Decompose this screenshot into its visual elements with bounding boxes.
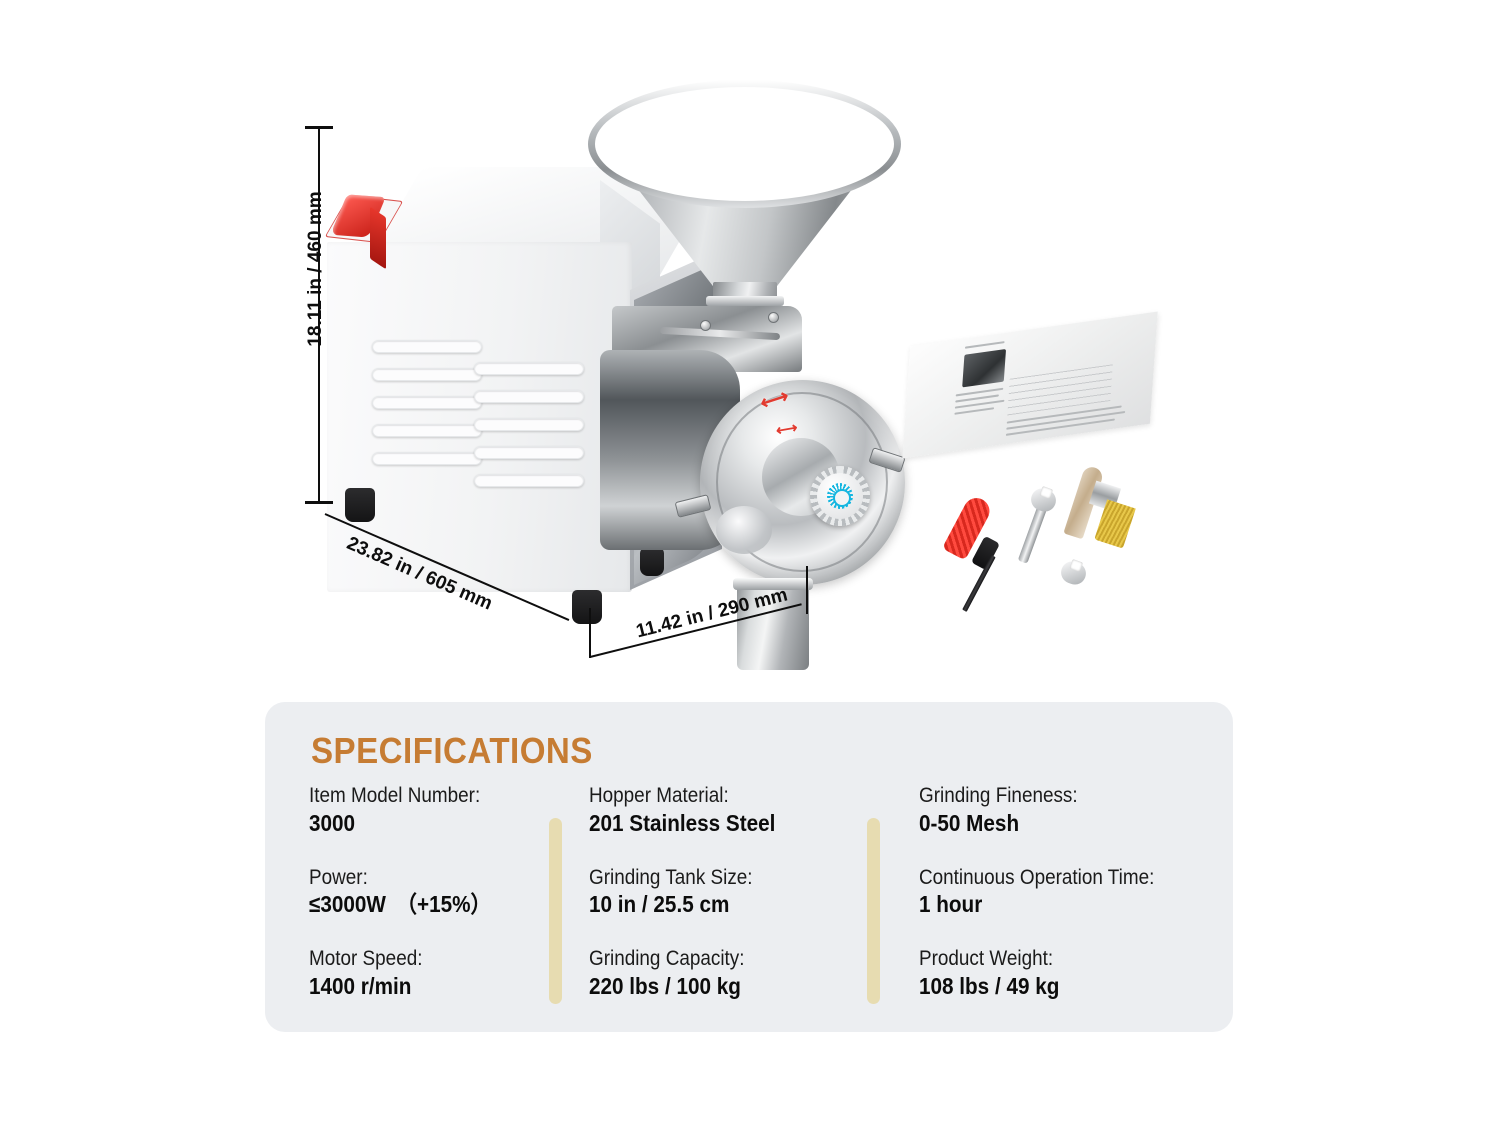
- spec-column-1: Item Model Number: 3000 Power: ≤3000W （+…: [309, 784, 599, 1029]
- spec-value: 201 Stainless Steel: [589, 809, 850, 838]
- manual-product-image: [962, 349, 1006, 387]
- rubber-foot: [572, 590, 602, 624]
- spec-value: 1400 r/min: [309, 972, 570, 1001]
- vent-slot: [372, 396, 482, 409]
- spec-item-continuous-operation-time: Continuous Operation Time: 1 hour: [919, 866, 1209, 920]
- vent-slot: [474, 390, 584, 403]
- vent-slot: [474, 446, 584, 459]
- dimension-tick: [806, 566, 808, 614]
- spec-item-motor-speed: Motor Speed: 1400 r/min: [309, 947, 599, 1001]
- vent-slot: [474, 474, 584, 487]
- rotation-arrow-icon: ⟷: [775, 418, 799, 439]
- spec-label: Product Weight:: [919, 947, 1180, 972]
- gear-icon: [827, 483, 853, 509]
- spec-label: Hopper Material:: [589, 784, 850, 809]
- height-dimension-label: 18.11 in / 460 mm: [305, 179, 327, 359]
- vent-slot-group-right: [474, 362, 584, 522]
- spec-label: Item Model Number:: [309, 784, 570, 809]
- spec-value: 220 lbs / 100 kg: [589, 972, 850, 1001]
- vent-slot: [372, 368, 482, 381]
- product-photo: ⟷ ⟷ 18.11 in / 460 mm 23.82 in / 605 mm …: [0, 0, 1500, 690]
- vent-slot: [474, 418, 584, 431]
- spec-item-grinding-fineness: Grinding Fineness: 0-50 Mesh: [919, 784, 1209, 838]
- chamber-cap: [716, 506, 772, 554]
- manual-text-line: [954, 407, 994, 415]
- hopper-bowl: [592, 84, 897, 204]
- spec-value: ≤3000W （+15%）: [309, 890, 570, 919]
- knob-face[interactable]: [817, 473, 863, 519]
- spec-label: Motor Speed:: [309, 947, 570, 972]
- spec-label: Power:: [309, 866, 570, 891]
- rubber-foot: [640, 548, 664, 576]
- bolt: [768, 312, 779, 323]
- hopper-collar: [706, 296, 784, 306]
- rubber-foot: [345, 488, 375, 522]
- spec-item-grinding-capacity: Grinding Capacity: 220 lbs / 100 kg: [589, 947, 879, 1001]
- vent-slot-group-left: [372, 340, 482, 500]
- spec-item-grinding-tank-size: Grinding Tank Size: 10 in / 25.5 cm: [589, 866, 879, 920]
- spec-label: Grinding Capacity:: [589, 947, 850, 972]
- spec-label: Grinding Fineness:: [919, 784, 1180, 809]
- spec-value: 108 lbs / 49 kg: [919, 972, 1180, 1001]
- spec-value: 3000: [309, 809, 570, 838]
- specifications-panel: SPECIFICATIONS Item Model Number: 3000 P…: [265, 702, 1233, 1032]
- wrench-head: [1028, 485, 1059, 514]
- vent-slot: [372, 424, 482, 437]
- spec-column-2: Hopper Material: 201 Stainless Steel Gri…: [589, 784, 879, 1029]
- spec-label: Grinding Tank Size:: [589, 866, 850, 891]
- dimension-tick: [305, 501, 333, 504]
- dimension-tick: [305, 126, 333, 129]
- product-spec-page: ⟷ ⟷ 18.11 in / 460 mm 23.82 in / 605 mm …: [0, 0, 1500, 1125]
- specifications-title: SPECIFICATIONS: [311, 730, 593, 772]
- spec-value: 1 hour: [919, 890, 1180, 919]
- spec-value: 10 in / 25.5 cm: [589, 890, 850, 919]
- spec-column-3: Grinding Fineness: 0-50 Mesh Continuous …: [919, 784, 1209, 1029]
- spec-value: 0-50 Mesh: [919, 809, 1180, 838]
- wrench-head: [1058, 558, 1089, 587]
- power-switch-side[interactable]: [370, 207, 386, 270]
- spec-label: Continuous Operation Time:: [919, 866, 1180, 891]
- vent-slot: [474, 362, 584, 375]
- vent-slot: [372, 340, 482, 353]
- spec-item-model-number: Item Model Number: 3000: [309, 784, 599, 838]
- vent-slot: [372, 452, 482, 465]
- instruction-manual: [902, 312, 1157, 459]
- spec-item-power: Power: ≤3000W （+15%）: [309, 866, 599, 920]
- spec-item-product-weight: Product Weight: 108 lbs / 49 kg: [919, 947, 1209, 1001]
- manual-text-line: [965, 341, 1005, 349]
- manual-table: [1007, 364, 1113, 415]
- spec-item-hopper-material: Hopper Material: 201 Stainless Steel: [589, 784, 879, 838]
- bolt: [700, 320, 711, 331]
- dimension-tick: [589, 608, 591, 658]
